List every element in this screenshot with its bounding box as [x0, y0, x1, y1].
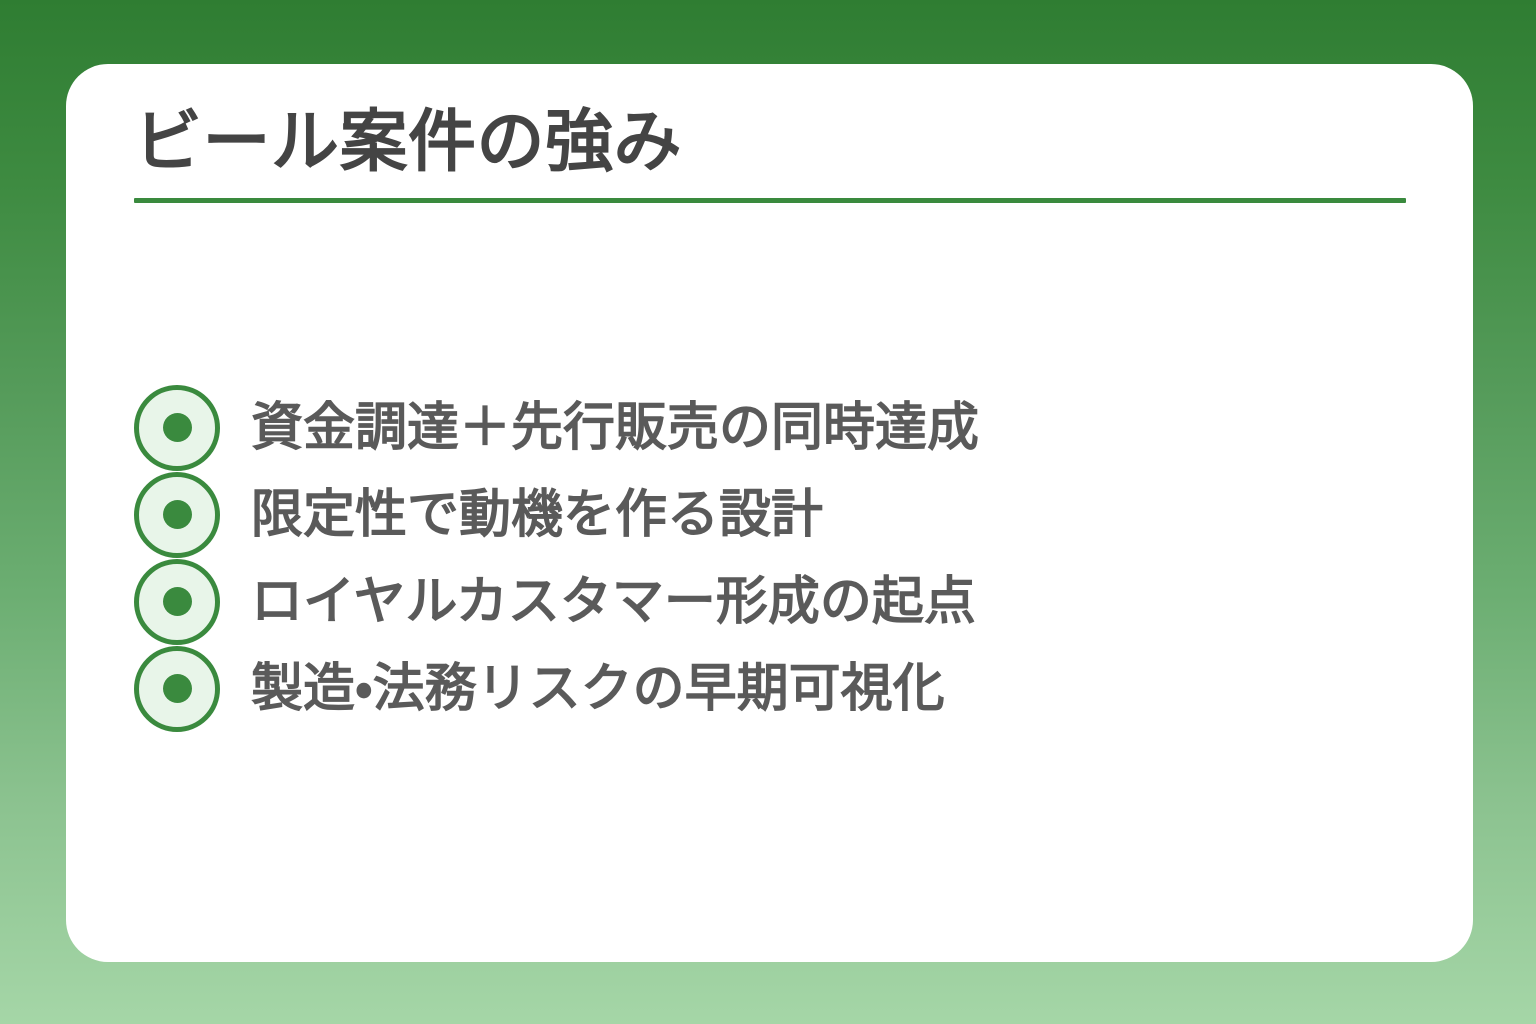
list-item: 資金調達＋先行販売の同時達成	[134, 384, 1414, 471]
filled-circle-bullet-icon	[134, 385, 220, 471]
title-block: ビール案件の強み	[134, 104, 1406, 203]
title-underline-rule	[134, 198, 1406, 203]
bullet-inner-dot	[163, 674, 192, 703]
bullet-list: 資金調達＋先行販売の同時達成 限定性で動機を作る設計 ロイヤルカスタマー形成の起…	[134, 384, 1414, 732]
list-item: 製造・法務リスクの早期可視化	[134, 645, 1414, 732]
page-title: ビール案件の強み	[134, 104, 1406, 180]
slide-canvas: ビール案件の強み 資金調達＋先行販売の同時達成 限定性で動機を作る設計	[0, 0, 1536, 1024]
filled-circle-bullet-icon	[134, 646, 220, 732]
bullet-inner-dot	[163, 413, 192, 442]
filled-circle-bullet-icon	[134, 472, 220, 558]
filled-circle-bullet-icon	[134, 559, 220, 645]
list-item: ロイヤルカスタマー形成の起点	[134, 558, 1414, 645]
slide-card: ビール案件の強み 資金調達＋先行販売の同時達成 限定性で動機を作る設計	[66, 64, 1473, 962]
list-item-label: 資金調達＋先行販売の同時達成	[251, 402, 979, 454]
bullet-inner-dot	[163, 500, 192, 529]
list-item: 限定性で動機を作る設計	[134, 471, 1414, 558]
list-item-label: ロイヤルカスタマー形成の起点	[251, 576, 976, 628]
list-item-label: 製造・法務リスクの早期可視化	[251, 663, 945, 715]
bullet-inner-dot	[163, 587, 192, 616]
list-item-label: 限定性で動機を作る設計	[251, 489, 823, 541]
